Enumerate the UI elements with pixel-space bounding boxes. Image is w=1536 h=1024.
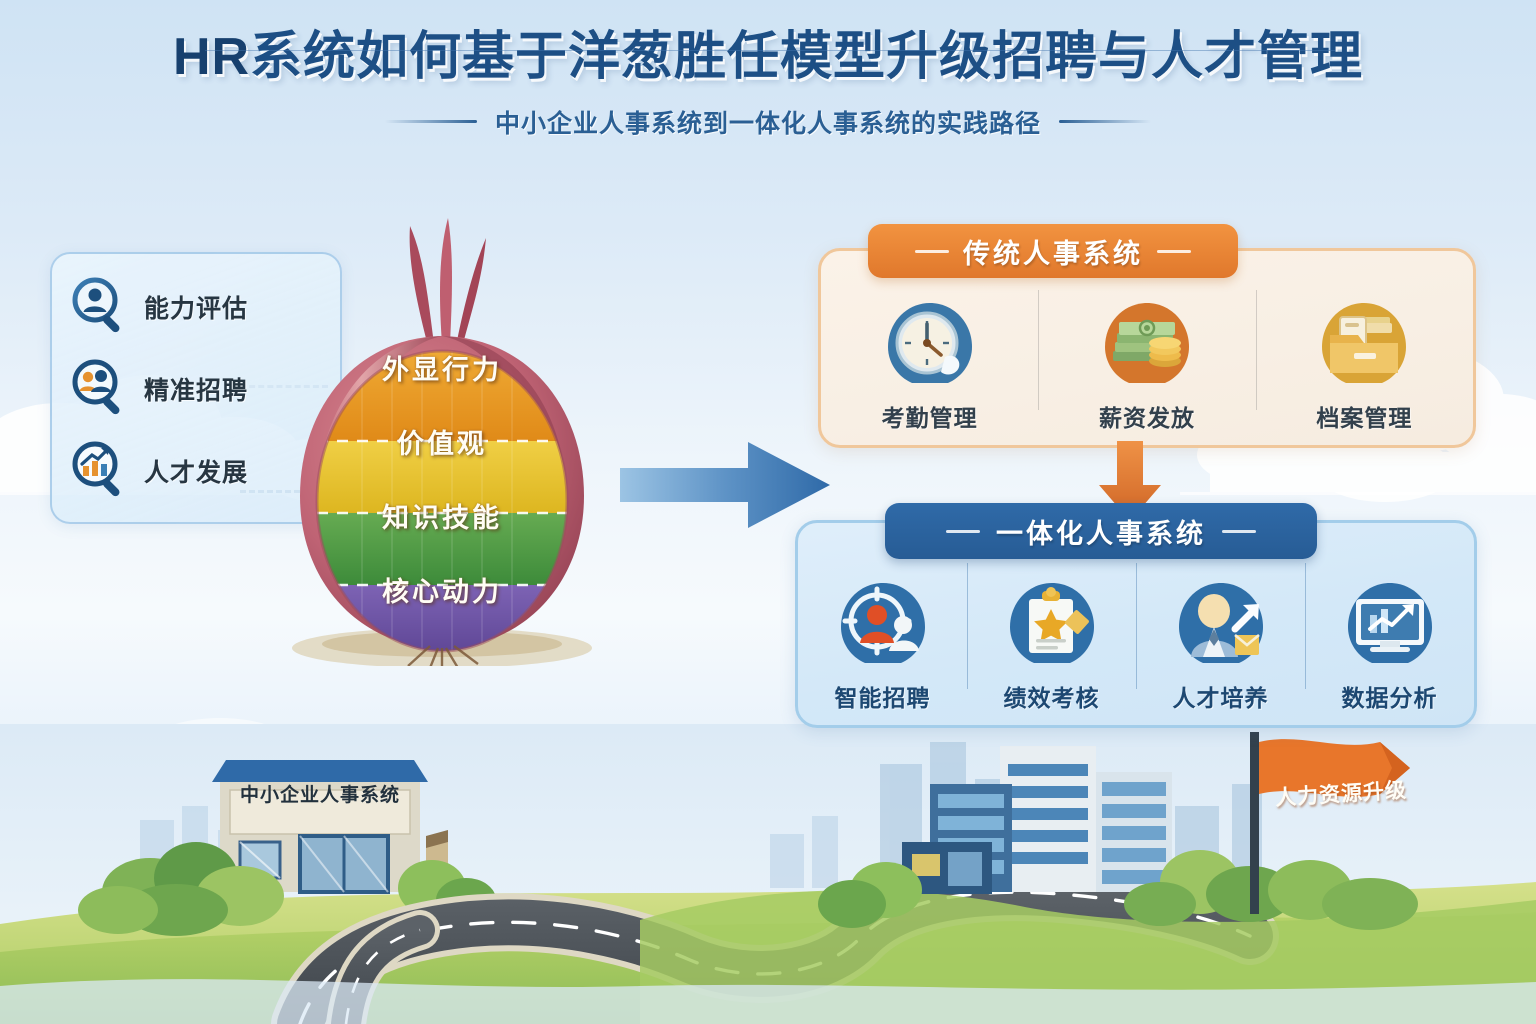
- onion-layer-label-1: 外显行力: [232, 348, 652, 387]
- monitor-chart-icon: [1342, 577, 1438, 673]
- tile-label: 档案管理: [1316, 399, 1412, 433]
- onion-layer-label-3: 知识技能: [232, 496, 652, 535]
- magnifier-person-icon: [70, 276, 132, 338]
- tile-label: 数据分析: [1342, 679, 1438, 713]
- traditional-tiles: 考勤管理: [821, 251, 1473, 445]
- file-folder-icon: [1316, 297, 1412, 393]
- badge-rule-right: [1157, 250, 1191, 253]
- header: HR系统如何基于洋葱胜任模型升级招聘与人才管理 中小企业人事系统到一体化人事系统…: [0, 28, 1536, 140]
- badge-label: 传统人事系统: [963, 232, 1143, 271]
- right-arrow-icon: [620, 430, 835, 540]
- clock-attendance-icon: [882, 297, 978, 393]
- tile-archive[interactable]: 档案管理: [1256, 251, 1473, 445]
- tile-label: 考勤管理: [882, 399, 978, 433]
- traditional-panel-badge: 传统人事系统: [868, 224, 1238, 278]
- subtitle-rule-left: [385, 120, 477, 123]
- traditional-hr-panel: 考勤管理: [818, 248, 1476, 448]
- onion-layer-label-2: 价值观: [232, 422, 652, 461]
- tile-payroll[interactable]: 薪资发放: [1038, 251, 1255, 445]
- money-cash-icon: [1099, 297, 1195, 393]
- building-sign-label: 中小企业人事系统: [228, 780, 412, 807]
- person-growth-arrow-icon: [1173, 577, 1269, 673]
- magnifier-growth-chart-icon: [70, 440, 132, 502]
- page-title: HR系统如何基于洋葱胜任模型升级招聘与人才管理: [0, 28, 1536, 88]
- feature-item-3[interactable]: 人才发展: [70, 440, 248, 502]
- title-hr-prefix: HR: [173, 28, 250, 86]
- tile-label: 绩效考核: [1004, 679, 1100, 713]
- feature-item-1[interactable]: 能力评估: [70, 276, 248, 338]
- badge-label: 一体化人事系统: [996, 512, 1206, 551]
- tile-data-analytics[interactable]: 数据分析: [1305, 523, 1474, 725]
- page-subtitle: 中小企业人事系统到一体化人事系统的实践路径: [495, 104, 1041, 140]
- badge-rule-left: [915, 250, 949, 253]
- bottom-landscape-scene: [0, 724, 1536, 1024]
- tile-attendance[interactable]: 考勤管理: [821, 251, 1038, 445]
- integrated-panel-badge: 一体化人事系统: [885, 503, 1317, 559]
- badge-rule-left: [946, 530, 980, 533]
- badge-rule-right: [1222, 530, 1256, 533]
- target-person-icon: [835, 577, 931, 673]
- magnifier-people-icon: [70, 358, 132, 420]
- feature-item-2[interactable]: 精准招聘: [70, 358, 248, 420]
- onion-layer-label-4: 核心动力: [232, 570, 652, 609]
- subtitle-row: 中小企业人事系统到一体化人事系统的实践路径: [0, 104, 1536, 140]
- header-hairline-top: [205, 50, 1335, 51]
- onion-competency-model: 外显行力 价值观 知识技能 核心动力: [232, 196, 652, 666]
- subtitle-rule-right: [1059, 120, 1151, 123]
- infographic-canvas: HR系统如何基于洋葱胜任模型升级招聘与人才管理 中小企业人事系统到一体化人事系统…: [0, 0, 1536, 1024]
- tile-label: 智能招聘: [835, 679, 931, 713]
- tile-label: 人才培养: [1173, 679, 1269, 713]
- star-clipboard-icon: [1004, 577, 1100, 673]
- tile-label: 薪资发放: [1099, 399, 1195, 433]
- title-main: 系统如何基于洋葱胜任模型升级招聘与人才管理: [250, 28, 1363, 86]
